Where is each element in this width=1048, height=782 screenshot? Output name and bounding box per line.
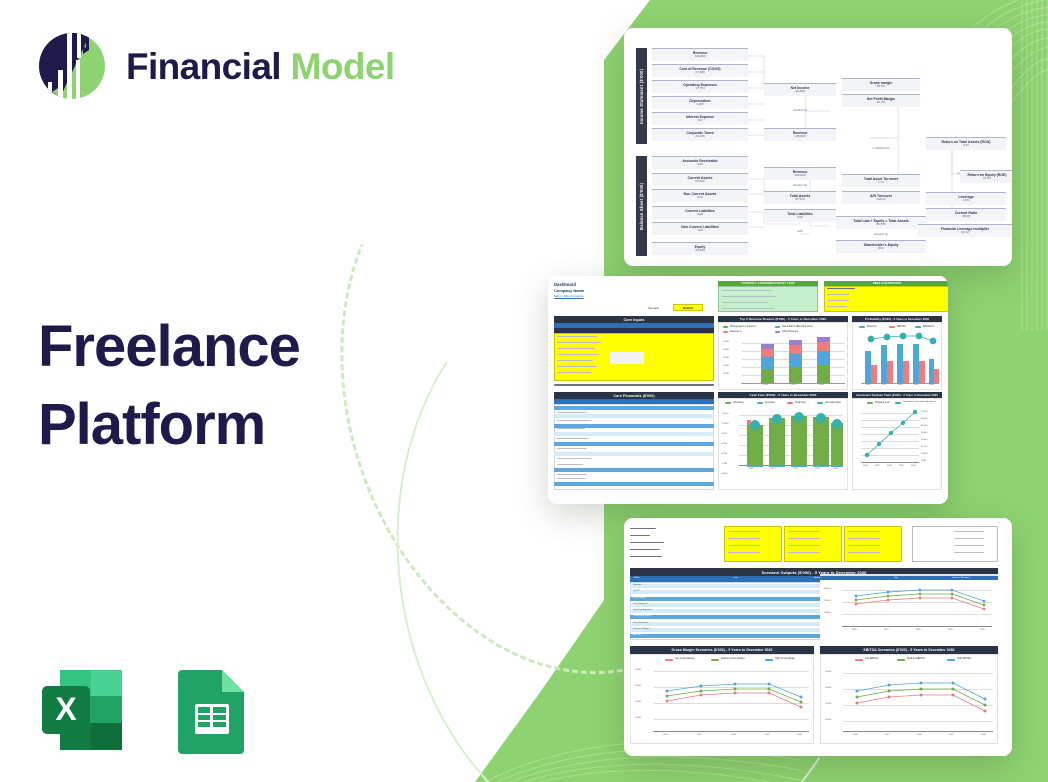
row-label: EBITDA bbox=[633, 634, 641, 636]
node-total-liabilities: Total Liabilities 948 bbox=[764, 209, 836, 222]
ebitda-top-lines bbox=[820, 580, 998, 640]
svg-text:X: X bbox=[55, 691, 77, 727]
x-tick: 2029 bbox=[948, 629, 953, 631]
x-tick: 2028 bbox=[917, 734, 922, 736]
chart-ebitda-top[interactable]: 25,000 20,000 15,000 2026 2027 2028 2029… bbox=[820, 580, 998, 640]
chart-top5-revenue-streams[interactable]: Pricing/Agency Services Sea & Batch (Ben… bbox=[718, 322, 848, 390]
x-tick: 2026 bbox=[663, 734, 668, 736]
x-tick: 2029 bbox=[914, 384, 919, 386]
node-return-on-total-assets: Return on Total Assets (ROA) 0.97 bbox=[926, 137, 1006, 150]
x-tick: 2030 bbox=[911, 465, 916, 467]
node-equity: Equity 49,628 bbox=[652, 242, 748, 255]
x-tick: 2027 bbox=[884, 629, 889, 631]
band-core-inputs: Core Inputs bbox=[554, 316, 714, 323]
row-label: Operating Expenses bbox=[633, 609, 652, 611]
payback-line bbox=[853, 399, 943, 491]
row-label: COGS bbox=[633, 590, 639, 592]
section-label: Balance Sheet ($'000) bbox=[639, 182, 644, 229]
screenshot-dupont-diagram[interactable]: Income Statement ($'000) Balance Sheet (… bbox=[624, 28, 1012, 266]
legend-swatch bbox=[775, 326, 780, 328]
legend-swatch bbox=[775, 331, 780, 333]
assumptions-labels bbox=[630, 526, 722, 566]
gross-margin-lines bbox=[631, 655, 815, 745]
legend-label: Pricing/Agency Services bbox=[730, 325, 756, 328]
row-label: Contribution Margin bbox=[633, 615, 651, 617]
x-tick: 2026 bbox=[863, 465, 868, 467]
operator-multiplied-by-1: multiplied by bbox=[842, 146, 920, 150]
col-header: High bbox=[894, 577, 898, 579]
node-revenue-3: Revenue 136,800 bbox=[764, 167, 836, 180]
brand-wordmark: Financial Model bbox=[126, 48, 395, 85]
ebitda-scenario-lines bbox=[821, 655, 999, 745]
net-cash-flow-markers bbox=[719, 399, 849, 491]
x-tick: 2027 bbox=[771, 468, 776, 470]
node-revenue-2: Revenue 136,800 bbox=[764, 128, 836, 141]
chart-ebitda-scenarios[interactable]: Low EBITDA Medium EBITDA High EBITDA 25,… bbox=[820, 654, 998, 744]
node-total-assets: Total Assets 50,576 bbox=[764, 191, 836, 204]
x-tick: 2028 bbox=[887, 465, 892, 467]
x-tick: 2026 bbox=[866, 384, 871, 386]
node-net-income: Net Income 48,828 bbox=[764, 83, 836, 96]
left-content-panel: Financial Model Freelance Platform X bbox=[0, 0, 470, 782]
node-interest-expense: Interest Expense 137 bbox=[652, 112, 748, 125]
band-core-financials: Core Financials ($'000) bbox=[554, 392, 714, 399]
operator-divided-by-3: divided by bbox=[836, 232, 926, 236]
chart-investment-payback[interactable]: Payback year Cumulative Cash Unlocked (G… bbox=[852, 398, 942, 490]
dupont-diagram: Income Statement ($'000) Balance Sheet (… bbox=[630, 34, 1006, 260]
col-header: Medium bbox=[814, 577, 821, 579]
supported-apps: X bbox=[34, 662, 260, 758]
x-tick: 2026 bbox=[853, 734, 858, 736]
legend-swatch bbox=[723, 326, 728, 328]
row-label: Gross Margin bbox=[633, 597, 645, 599]
x-tick: 2029 bbox=[899, 465, 904, 467]
google-sheets-icon[interactable] bbox=[164, 662, 260, 758]
x-tick: 2027 bbox=[882, 384, 887, 386]
ebitda-percent-line bbox=[853, 323, 943, 391]
node-current-ratio: Current Ratio 58.98 bbox=[926, 208, 1006, 221]
page-title: Freelance Platform bbox=[38, 308, 438, 463]
node-shareholders-equity: Shareholder's Equity 800 bbox=[836, 240, 926, 253]
x-tick: 2026 bbox=[749, 468, 754, 470]
x-tick: 2030 bbox=[833, 468, 838, 470]
legend-label: Sea & Batch (Benefits) setup bbox=[782, 325, 813, 328]
row-label: Salaries & Wages bbox=[633, 628, 649, 630]
brand-name-part2: Model bbox=[291, 46, 395, 87]
chart-cash-flow[interactable]: Operating Investing Financing Net Cash F… bbox=[718, 398, 848, 490]
node-net-profit-margin: Net Profit Margin 35.7% bbox=[842, 94, 920, 107]
screenshot-dashboard[interactable]: Dashboard Company Name Back to Table of … bbox=[548, 276, 948, 504]
x-tick: 2027 bbox=[697, 734, 702, 736]
node-current-assets: Current Assets 50,006 bbox=[652, 173, 748, 186]
node-corporate-taxes: Corporate Taxes 20,936 bbox=[652, 128, 748, 141]
x-tick: 2030 bbox=[981, 734, 986, 736]
page-title-line2: Platform bbox=[38, 386, 438, 464]
scenario-dropdown[interactable]: Medium bbox=[673, 304, 703, 311]
legend-swatch bbox=[723, 331, 728, 333]
dupont-section-income-statement: Income Statement ($'000) bbox=[636, 48, 647, 144]
x-tick: 2029 bbox=[949, 734, 954, 736]
node-cogs: Cost of Revenue (COGS) 47,880 bbox=[652, 64, 748, 77]
scenario-label: Scenario bbox=[648, 306, 659, 310]
chart-profitability[interactable]: Revenue EBITDA EBITDA % 2026 2027 2028 bbox=[852, 322, 942, 390]
node-ar-turnover: A/R Turnover 144.24 bbox=[842, 191, 920, 204]
row-label: Revenue bbox=[633, 584, 641, 586]
dashboard-subtitle: Company Name bbox=[554, 288, 584, 293]
node-depreciation: Depreciation 1,265 bbox=[652, 96, 748, 109]
section-label: Income Statement ($'000) bbox=[639, 68, 644, 123]
page-title-line1: Freelance bbox=[38, 308, 438, 386]
node-financial-leverage-multiplier: Financial Leverage multiplier 63.22 bbox=[918, 224, 1012, 237]
x-tick: 2027 bbox=[875, 465, 880, 467]
screenshot-scenario-outputs[interactable]: Scenario Outputs ($'000) - 5 Years to De… bbox=[624, 518, 1012, 756]
band-gross-margin-scenarios: Gross Margin Scenarios ($'000) - 5 Years… bbox=[630, 646, 814, 654]
x-tick: 2028 bbox=[763, 384, 768, 386]
node-non-current-liabilities: Non Current Liabilities 105 bbox=[652, 222, 748, 235]
node-accounts-receivable: Accounts Receivable 948 bbox=[652, 156, 748, 169]
brand-logo[interactable]: Financial Model bbox=[36, 30, 395, 102]
chart-gross-margin-scenarios[interactable]: Low Gross Margin Medium Gross Margin Hig… bbox=[630, 654, 814, 744]
node-revenue: Revenue 136,800 bbox=[652, 48, 748, 61]
col-header: Low bbox=[734, 577, 738, 579]
legend-label: Revenue 4 bbox=[730, 330, 742, 333]
node-operating-expenses: Operating Expenses 17,754 bbox=[652, 80, 748, 93]
panel-debt-cells[interactable] bbox=[824, 286, 948, 312]
legend-label: Other Revenue bbox=[782, 330, 798, 333]
x-tick: 2029 bbox=[815, 468, 820, 470]
x-tick: 2026 bbox=[852, 629, 857, 631]
node-total-asset-turnover: Total Asset Turnover 2.70 bbox=[842, 174, 920, 187]
node-non-current-assets: Non Current Assets 570 bbox=[652, 189, 748, 202]
x-tick: 2028 bbox=[916, 629, 921, 631]
swirl-pattern-right-edge bbox=[1020, 0, 1048, 330]
x-tick: 2028 bbox=[731, 734, 736, 736]
x-tick: 2030 bbox=[980, 629, 985, 631]
node-return-on-equity: Return on Equity (ROE) 61.03 bbox=[960, 170, 1012, 183]
brand-name-part1: Financial bbox=[126, 46, 281, 87]
x-tick: 2027 bbox=[885, 734, 890, 736]
node-total-liab-equity: Total Liab + Equity = Total Assets 50,57… bbox=[836, 216, 926, 229]
operator-add: Add bbox=[764, 229, 836, 233]
x-tick: 2030 bbox=[929, 384, 934, 386]
dashboard-title: Dashboard bbox=[554, 282, 576, 287]
x-tick: 2029 bbox=[791, 384, 796, 386]
operator-divided-by-1: divided by bbox=[764, 108, 836, 112]
x-tick: 2029 bbox=[765, 734, 770, 736]
col-header: Variance (Medium) bbox=[952, 577, 969, 579]
row-label: Gross Margin % bbox=[633, 603, 648, 605]
microsoft-excel-icon[interactable]: X bbox=[34, 662, 130, 758]
back-to-contents-link[interactable]: Back to Table of Contents bbox=[554, 295, 584, 298]
band-ebitda-scenarios: EBITDA Scenarios ($'000) - 5 Years to De… bbox=[820, 646, 998, 654]
col-header: $000s bbox=[634, 577, 640, 579]
financial-model-circle-logo-icon bbox=[36, 30, 108, 102]
x-tick: 2028 bbox=[898, 384, 903, 386]
node-leverage: Leverage 1.9% bbox=[926, 192, 1006, 205]
x-tick: 2028 bbox=[793, 468, 798, 470]
x-tick: 2030 bbox=[819, 384, 824, 386]
x-tick: 2030 bbox=[797, 734, 802, 736]
row-label: Direct Expenses bbox=[633, 622, 648, 624]
dupont-section-balance-sheet: Balance Sheet ($'000) bbox=[636, 156, 647, 256]
operator-divided-by-2: divided by bbox=[764, 183, 836, 187]
node-gross-margin: Gross margin 65.0% bbox=[842, 78, 920, 91]
node-current-liabilities: Current Liabilities 948 bbox=[652, 206, 748, 219]
